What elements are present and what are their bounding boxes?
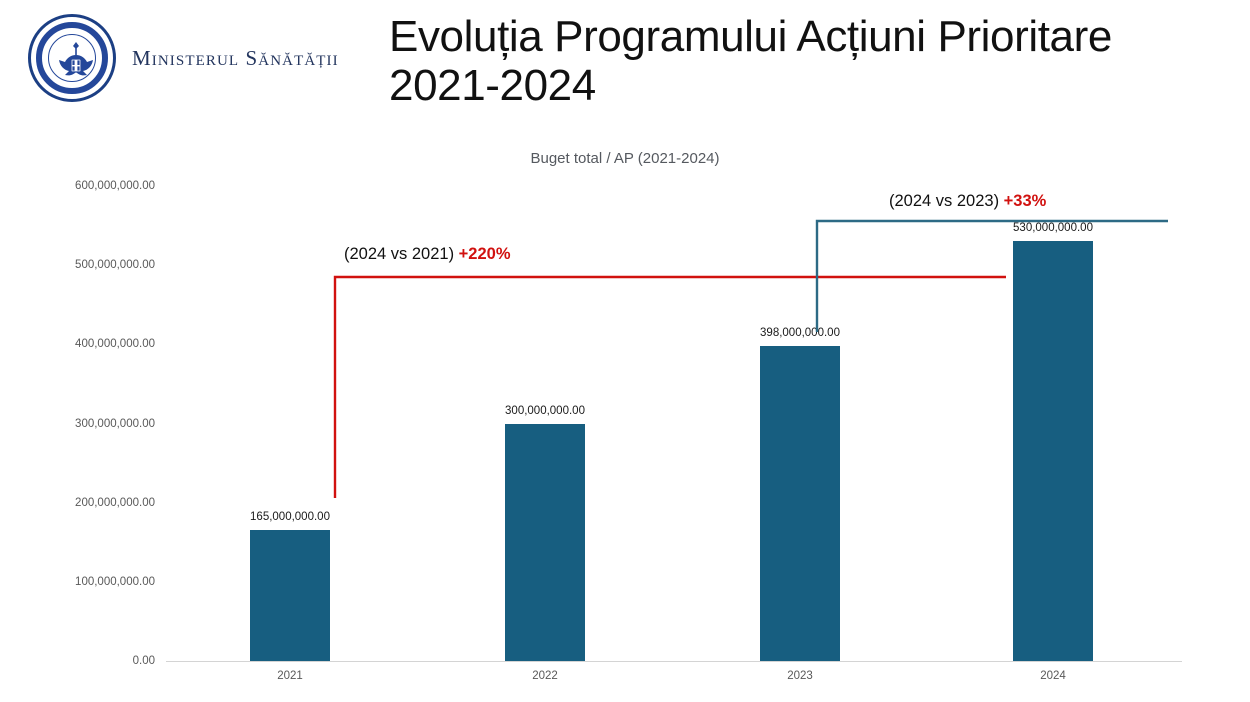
annotation-value: +33%	[1004, 192, 1047, 210]
annotation-value: +220%	[459, 245, 511, 263]
y-axis-tick-label: 400,000,000.00	[25, 338, 155, 350]
y-axis-ticks: 0.00100,000,000.00200,000,000.00300,000,…	[25, 0, 155, 702]
x-axis-tick-label: 2021	[277, 670, 303, 682]
x-axis-tick-label: 2023	[787, 670, 813, 682]
bar-2021[interactable]	[250, 530, 330, 661]
annotation-label-2024-vs-2023: (2024 vs 2023) +33%	[889, 192, 1046, 211]
y-axis-tick-label: 600,000,000.00	[25, 180, 155, 192]
bar-value-label: 165,000,000.00	[250, 511, 330, 523]
annotation-text: (2024 vs 2021)	[344, 245, 454, 263]
x-axis-tick-label: 2022	[532, 670, 558, 682]
x-axis-tick-label: 2024	[1040, 670, 1066, 682]
annotation-bracket-2024-vs-2023	[812, 214, 1172, 339]
annotation-label-2024-vs-2021: (2024 vs 2021) +220%	[344, 245, 511, 264]
y-axis-tick-label: 200,000,000.00	[25, 497, 155, 509]
slide-canvas: Ministerul Sănătății Evoluția Programulu…	[0, 0, 1250, 702]
annotation-text: (2024 vs 2023)	[889, 192, 999, 210]
y-axis-tick-label: 100,000,000.00	[25, 576, 155, 588]
y-axis-tick-label: 500,000,000.00	[25, 259, 155, 271]
bar-chart: 0.00100,000,000.00200,000,000.00300,000,…	[0, 0, 1250, 702]
y-axis-tick-label: 0.00	[25, 655, 155, 667]
x-axis-line	[166, 661, 1182, 662]
y-axis-tick-label: 300,000,000.00	[25, 418, 155, 430]
